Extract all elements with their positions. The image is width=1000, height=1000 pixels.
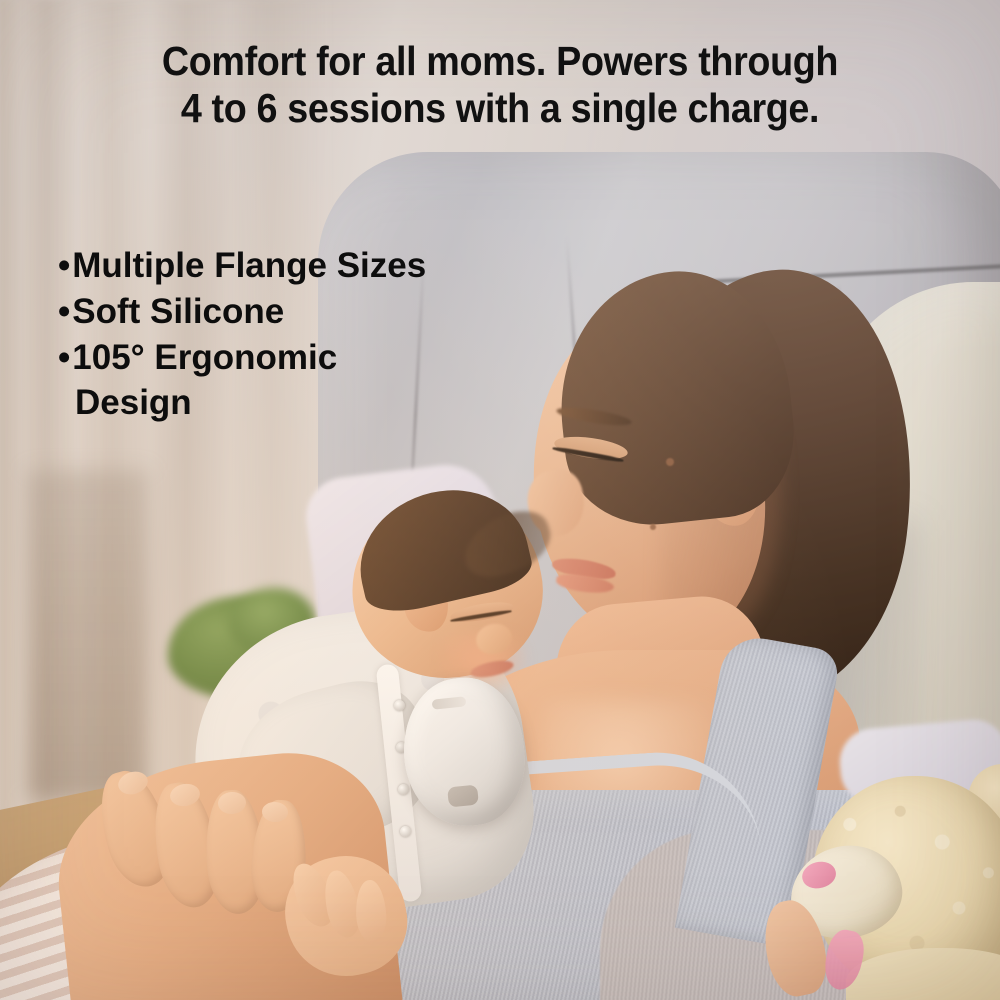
feature-item-ergonomic-design: 105° Ergonomic Design [58, 335, 458, 425]
onesie-snap [398, 784, 409, 795]
promo-banner: Comfort for all moms. Powers through 4 t… [0, 0, 1000, 1000]
mother-mole [666, 458, 674, 466]
onesie-snap [394, 700, 405, 711]
headline-line-1: Comfort for all moms. Powers through [40, 38, 960, 85]
feature-list: Multiple Flange Sizes Soft Silicone 105°… [58, 243, 458, 426]
feature-item-soft-silicone: Soft Silicone [58, 289, 458, 334]
doorway-shadow [28, 470, 148, 800]
onesie-snap [400, 826, 411, 837]
headline-line-2: 4 to 6 sessions with a single charge. [40, 85, 960, 132]
pump-button [447, 784, 479, 807]
headline: Comfort for all moms. Powers through 4 t… [40, 38, 960, 132]
feature-item-flange-sizes: Multiple Flange Sizes [58, 243, 458, 288]
mother-mole [650, 524, 656, 530]
lifestyle-photo [0, 0, 1000, 1000]
